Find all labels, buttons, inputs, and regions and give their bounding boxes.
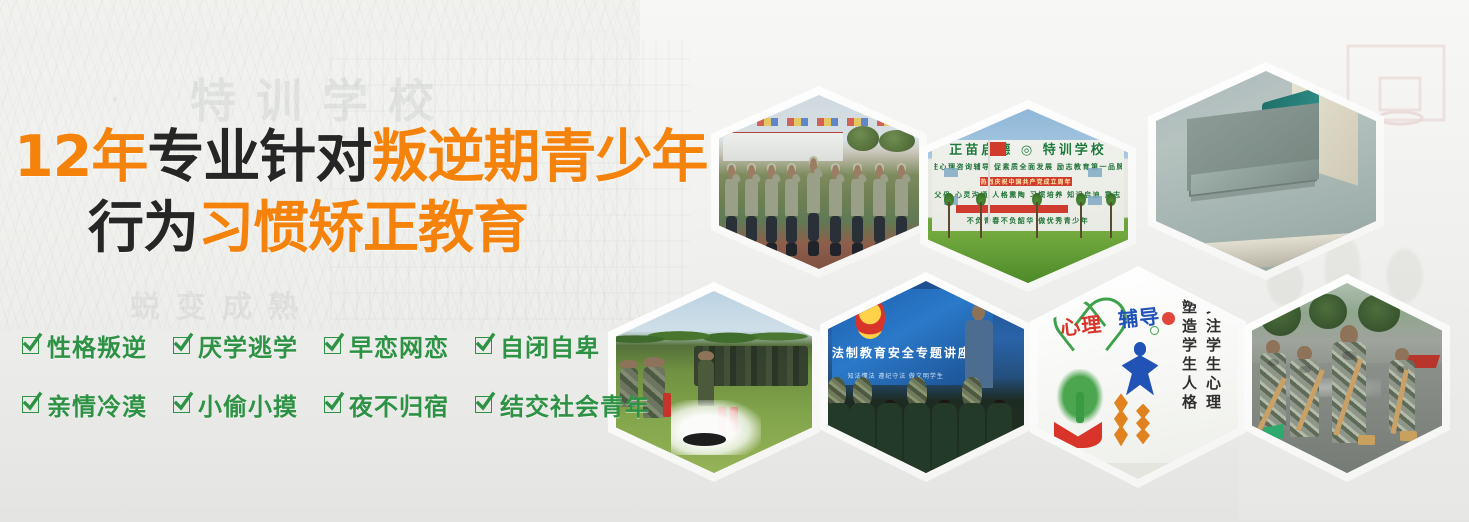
red-dot-icon (1162, 312, 1175, 325)
list-item-label: 早恋网恋 (349, 328, 449, 363)
headline-line-1: 12年专业针对叛逆期青少年 (14, 126, 707, 188)
mural-title-left: 心理 (1059, 308, 1104, 341)
hex-photo-inner: 心理 辅导 关注学生心理 塑造学生人格 (1038, 275, 1238, 479)
wheat-icon (1136, 404, 1150, 445)
check-mark-icon (475, 396, 492, 413)
lecture-screen-title: 法制教育安全专题讲座 (832, 344, 972, 361)
list-item: 厌学逃学 (173, 328, 298, 363)
list-item: 自闭自卑 (475, 328, 600, 363)
calligraphy-col-2: 塑造学生人格 (1179, 299, 1200, 462)
promo-banner: 特训学校 蜕变成熟 12年专业针对叛逆期青少年 行为习惯矫正教育 性格叛逆 (0, 0, 1469, 522)
scene-fire-drill (616, 291, 812, 473)
hex-photo-inner (1156, 71, 1376, 271)
list-item: 早恋网恋 (324, 328, 449, 363)
hex-photo-inner (616, 291, 812, 473)
list-item-label: 性格叛逆 (47, 328, 147, 363)
headline-seg-correction: 习惯矫正教育 (198, 196, 528, 261)
scene-legal-lecture: 法制教育安全专题讲座 知法懂法 遵纪守法 做文明学生 (828, 281, 1024, 473)
headline-seg-behavior: 行为 (88, 196, 198, 261)
hex-photo-legal-lecture: 法制教育安全专题讲座 知法懂法 遵纪守法 做文明学生 (820, 272, 1032, 482)
scene-salute-formation (719, 95, 919, 269)
wheat-icon (1114, 393, 1128, 446)
school-sign: 正苗启德 ◎ 特训学校 (936, 137, 1120, 160)
list-item: 亲情冷漠 (22, 387, 147, 422)
hex-photo-fire-drill (608, 282, 820, 482)
hex-photo-psychology-mural: 心理 辅导 关注学生心理 塑造学生人格 (1030, 266, 1246, 488)
headline-block: 12年专业针对叛逆期青少年 行为习惯矫正教育 (14, 126, 707, 260)
school-sign-text: 正苗启德 ◎ 特训学校 (949, 139, 1106, 158)
school-red-banner: 热烈庆祝中国共产党成立周年 (980, 177, 1071, 186)
scene-folded-bedding (1156, 71, 1376, 271)
scene-labor-sweeping (1252, 283, 1442, 473)
hex-photo-folded-bedding (1148, 62, 1384, 280)
check-mark-icon (173, 396, 190, 413)
list-item-label: 厌学逃学 (198, 328, 298, 363)
person-figure-icon (1120, 342, 1160, 395)
list-item: 夜不归宿 (324, 387, 449, 422)
list-item: 小偷小摸 (173, 387, 298, 422)
check-mark-icon (22, 337, 39, 354)
hex-photo-salute-formation (711, 86, 927, 278)
hex-photo-inner (719, 95, 919, 269)
headline-seg-target: 叛逆期青少年 (371, 124, 707, 190)
scene-school-building: 正苗启德 ◎ 特训学校 注心理咨询辅导 促素质全面发展 励志教育第一品牌 热烈庆… (928, 109, 1128, 283)
hex-photo-inner: 法制教育安全专题讲座 知法懂法 遵纪守法 做文明学生 (828, 281, 1024, 473)
hex-photo-labor-sweeping (1244, 274, 1450, 482)
check-mark-icon (475, 337, 492, 354)
check-mark-icon (324, 337, 341, 354)
checklist-row: 性格叛逆 厌学逃学 早恋网恋 自闭自卑 (22, 328, 622, 363)
problem-checklist: 性格叛逆 厌学逃学 早恋网恋 自闭自卑 (22, 328, 622, 446)
green-circle-icon (1150, 326, 1159, 335)
headline-seg-professional: 专业针对 (147, 124, 371, 190)
list-item-label: 小偷小摸 (198, 387, 298, 422)
check-mark-icon (324, 396, 341, 413)
check-mark-icon (22, 396, 39, 413)
tree-icon (1052, 369, 1108, 430)
hex-photo-inner: 正苗启德 ◎ 特训学校 注心理咨询辅导 促素质全面发展 励志教育第一品牌 热烈庆… (928, 109, 1128, 283)
scene-psychology-mural: 心理 辅导 关注学生心理 塑造学生人格 (1038, 275, 1238, 479)
checklist-row: 亲情冷漠 小偷小摸 夜不归宿 结交社会青年 (22, 387, 622, 422)
list-item-label: 亲情冷漠 (47, 387, 147, 422)
mural-calligraphy: 关注学生心理 塑造学生人格 (1179, 299, 1224, 462)
list-item-label: 结交社会青年 (500, 387, 650, 422)
headline-seg-years: 12年 (14, 124, 147, 190)
check-mark-icon (173, 337, 190, 354)
list-item-label: 自闭自卑 (500, 328, 600, 363)
list-item: 结交社会青年 (475, 387, 650, 422)
hex-photo-inner (1252, 283, 1442, 473)
list-item: 性格叛逆 (22, 328, 147, 363)
headline-line-2: 行为习惯矫正教育 (14, 198, 707, 260)
calligraphy-col-1: 关注学生心理 (1203, 299, 1224, 462)
list-item-label: 夜不归宿 (349, 387, 449, 422)
hex-photo-school-building: 正苗启德 ◎ 特训学校 注心理咨询辅导 促素质全面发展 励志教育第一品牌 热烈庆… (920, 100, 1136, 292)
